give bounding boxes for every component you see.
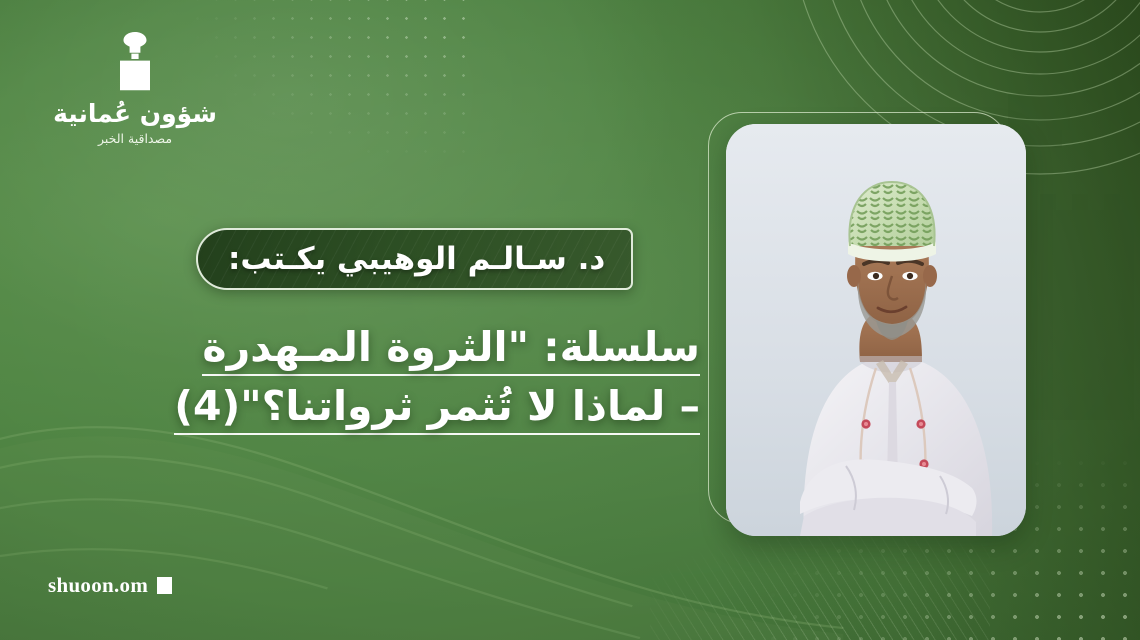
headline: سلسلة: "الثروة المـهدرة – لماذا لا تُثمر…	[140, 318, 700, 436]
author-badge-label: د. سـالـم الوهيبي يكـتب:	[228, 244, 605, 275]
portrait-frame	[708, 112, 1048, 542]
author-photo	[726, 124, 1026, 536]
author-portrait-illustration-icon	[726, 124, 1026, 536]
author-badge: د. سـالـم الوهيبي يكـتب:	[196, 228, 633, 290]
brand-tagline: مصداقية الخبر	[98, 133, 172, 146]
brand-logo: شؤون عُمانية مصداقية الخبر	[46, 30, 224, 146]
social-media-news-card: شؤون عُمانية مصداقية الخبر د. سـالـم الو…	[0, 0, 1140, 640]
footer-website[interactable]: shuoon.om	[48, 575, 172, 596]
incense-burner-logo-icon	[108, 30, 162, 92]
square-mark-icon	[157, 577, 172, 594]
headline-line-1: سلسلة: "الثروة المـهدرة	[140, 318, 700, 377]
website-url[interactable]: shuoon.om	[48, 575, 148, 596]
brand-name: شؤون عُمانية	[53, 101, 217, 126]
headline-line-2: – لماذا لا تُثمر ثرواتنا؟"(4)	[140, 377, 700, 436]
